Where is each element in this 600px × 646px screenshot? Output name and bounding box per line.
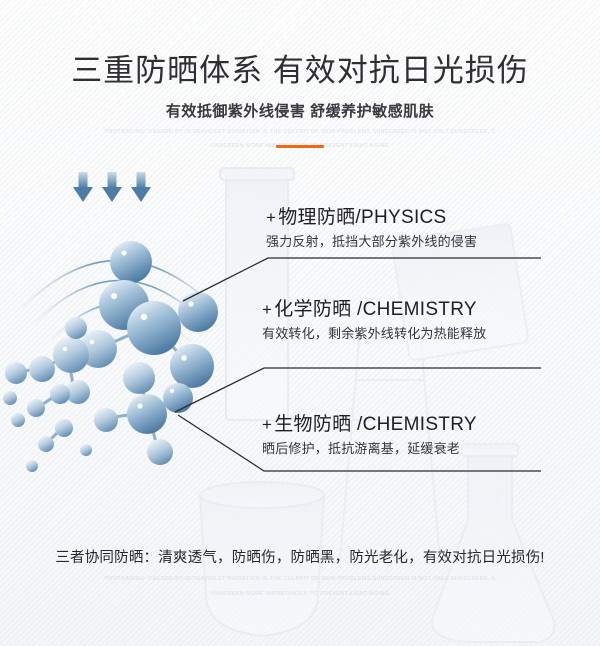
plus-icon: + <box>262 300 274 319</box>
header-english-line-1: PHOTOAGING' CAUSED BY ULTRAVIOLET RADIAT… <box>0 122 600 136</box>
poster-header: 三重防晒体系 有效对抗日光损伤 有效抵御紫外线侵害 舒缓养护敏感肌肤 PHOTO… <box>0 0 600 150</box>
callout-2-description: 有效转化，剩余紫外线转化为热能释放 <box>262 322 552 343</box>
footer-english-line-2: UNSCREEN MORE IMPORTANTLY, TO PREVENT LI… <box>0 583 600 598</box>
poster-footer: 三者协同防晒：清爽透气，防晒伤，防晒黑，防光老化，有效对抗日光损伤! PHOTO… <box>0 548 600 598</box>
callout-1-title: +物理防晒/PHYSICS <box>266 206 556 230</box>
orange-divider <box>276 145 324 148</box>
callout-chemical-sunscreen: +化学防晒 /CHEMISTRY 有效转化，剩余紫外线转化为热能释放 <box>262 298 552 343</box>
uv-arrow-group <box>73 172 151 202</box>
callout-2-title-text: 化学防晒 /CHEMISTRY <box>274 299 477 320</box>
plus-icon: + <box>266 208 278 227</box>
callout-2-title: +化学防晒 /CHEMISTRY <box>262 298 552 322</box>
footer-summary: 三者协同防晒：清爽透气，防晒伤，防晒黑，防光老化，有效对抗日光损伤! <box>0 548 600 568</box>
plus-icon: + <box>262 415 274 434</box>
molecule-uv-figure <box>0 150 300 490</box>
callout-3-description: 晒后修护，抵抗游离基，延缓衰老 <box>262 437 552 458</box>
callout-3-title: +生物防晒 /CHEMISTRY <box>262 413 552 437</box>
page-subtitle: 有效抵御紫外线侵害 舒缓养护敏感肌肤 <box>0 90 600 122</box>
callout-biological-sunscreen: +生物防晒 /CHEMISTRY 晒后修护，抵抗游离基，延缓衰老 <box>262 413 552 458</box>
footer-english-line-1: PHOTOAGING' CAUSED BY ULTRAVIOLET RADIAT… <box>0 568 600 583</box>
sunscreen-infographic-poster: 三重防晒体系 有效对抗日光损伤 有效抵御紫外线侵害 舒缓养护敏感肌肤 PHOTO… <box>0 0 600 646</box>
callout-3-title-text: 生物防晒 /CHEMISTRY <box>274 414 477 435</box>
callout-physical-sunscreen: +物理防晒/PHYSICS 强力反射，抵挡大部分紫外线的侵害 <box>266 206 556 251</box>
callout-1-title-text: 物理防晒/PHYSICS <box>278 207 446 228</box>
page-title: 三重防晒体系 有效对抗日光损伤 <box>0 0 600 90</box>
callout-1-description: 强力反射，抵挡大部分紫外线的侵害 <box>266 230 556 251</box>
